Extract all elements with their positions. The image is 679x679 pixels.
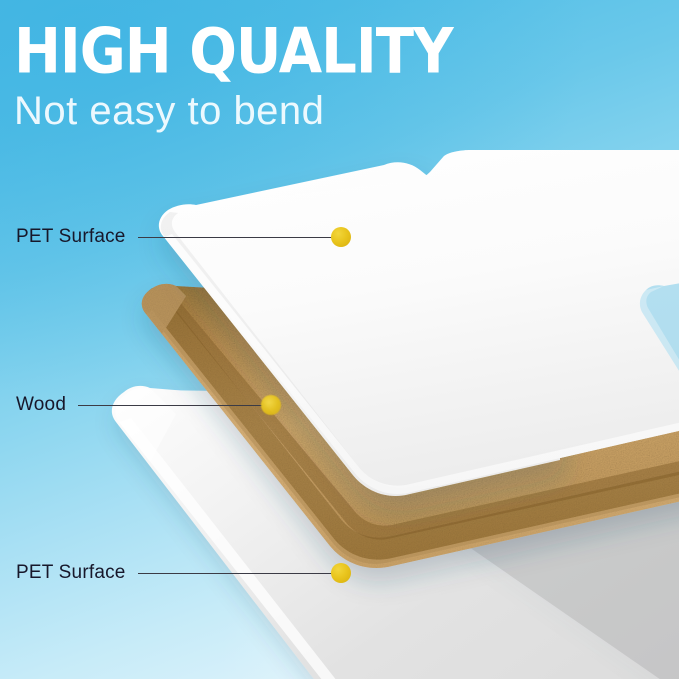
callout-leader-line <box>138 573 333 574</box>
callout-dot <box>261 395 281 415</box>
callout-leader-line <box>138 237 333 238</box>
page-subtitle: Not easy to bend <box>14 89 654 133</box>
callout-dot <box>331 227 351 247</box>
page-title: HIGH QUALITY <box>14 18 667 84</box>
callout-pet-surface-top: PET Surface <box>16 226 351 248</box>
callout-pet-surface-bottom: PET Surface <box>16 562 351 584</box>
callout-label: Wood <box>16 394 66 416</box>
callout-leader-line <box>78 405 263 406</box>
callout-dot <box>331 563 351 583</box>
callout-label: PET Surface <box>16 226 126 248</box>
callout-label: PET Surface <box>16 562 126 584</box>
headline-block: HIGH QUALITY Not easy to bend <box>14 18 654 133</box>
product-infographic: HIGH QUALITY Not easy to bend PET Surfac… <box>0 0 679 679</box>
callout-wood: Wood <box>16 394 281 416</box>
